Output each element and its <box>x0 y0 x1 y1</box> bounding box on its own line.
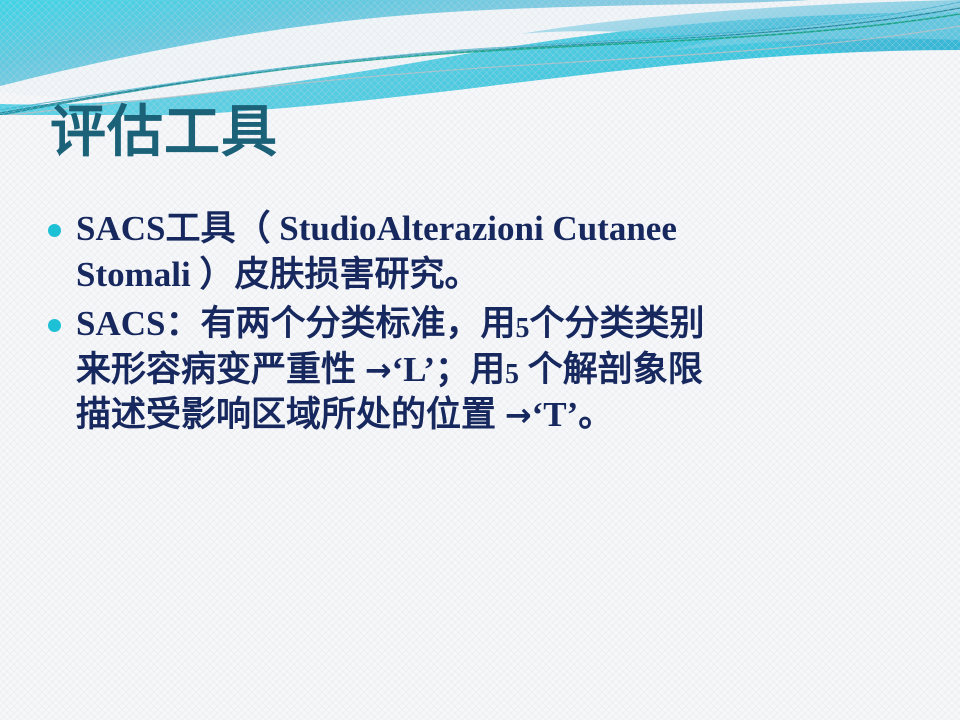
text-run: ‘L’；用 <box>392 350 505 389</box>
text-run-number: 5 <box>505 359 519 390</box>
text-line: 来形容病变严重性 →‘L’；用5 个解剖象限 <box>76 347 928 393</box>
page-title: 评估工具 <box>50 104 278 163</box>
presentation-slide: 评估工具 SACS工具（ StudioAlterazioni Cutanee S… <box>0 0 960 720</box>
text-line: SACS工具（ StudioAlterazioni Cutanee <box>76 206 928 252</box>
text-run: ‘T’。 <box>532 395 614 434</box>
right-arrow-icon: → <box>365 351 392 389</box>
list-item: SACS：有两个分类标准，用5个分类类别 来形容病变严重性 →‘L’；用5 个解… <box>48 301 928 438</box>
text-line: SACS：有两个分类标准，用5个分类类别 <box>76 301 928 347</box>
text-line: 描述受影响区域所处的位置 →‘T’。 <box>76 392 928 438</box>
list-item-text: SACS工具（ StudioAlterazioni Cutanee Stomal… <box>76 206 928 297</box>
text-run-number: 5 <box>515 313 529 344</box>
text-run: SACS：有两个分类标准，用 <box>76 304 515 343</box>
text-run: 个分类类别 <box>529 304 704 343</box>
slide-body: SACS工具（ StudioAlterazioni Cutanee Stomal… <box>48 206 928 442</box>
list-item: SACS工具（ StudioAlterazioni Cutanee Stomal… <box>48 206 928 297</box>
text-run: Stomali ）皮肤损害研究。 <box>76 255 479 294</box>
text-run: 来形容病变严重性 <box>76 350 365 389</box>
decorative-wave-banner <box>0 0 960 110</box>
text-line: Stomali ）皮肤损害研究。 <box>76 252 928 298</box>
list-item-text: SACS：有两个分类标准，用5个分类类别 来形容病变严重性 →‘L’；用5 个解… <box>76 301 928 438</box>
text-run: 描述受影响区域所处的位置 <box>76 395 505 434</box>
bullet-dot-icon <box>48 206 76 237</box>
bullet-dot-icon <box>48 301 76 332</box>
text-run: 个解剖象限 <box>519 350 703 389</box>
right-arrow-icon: → <box>505 396 532 434</box>
text-run: SACS工具（ StudioAlterazioni Cutanee <box>76 209 677 248</box>
